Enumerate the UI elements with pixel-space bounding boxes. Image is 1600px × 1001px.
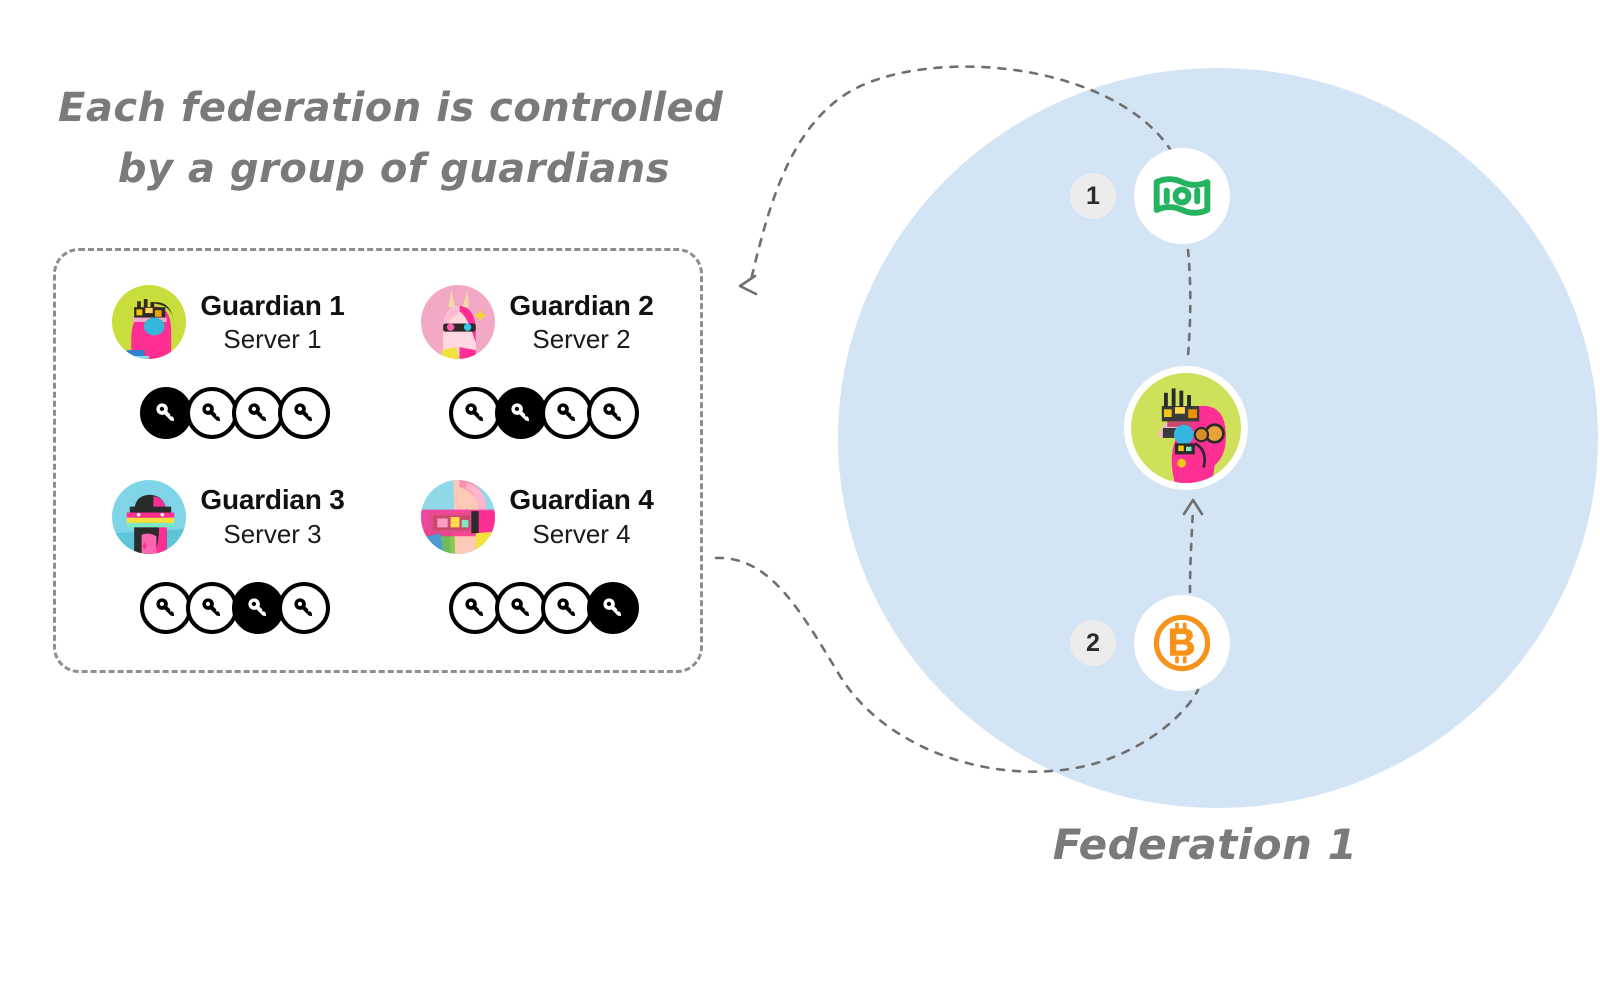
key-icon[interactable] [186,582,238,634]
guardian-card[interactable]: Guardian 3 Server 3 [74,462,383,657]
guardian-header: Guardian 1 Server 1 [112,267,344,377]
headline-line-2: by a group of guardians [58,139,708,200]
key-icon[interactable] [278,387,330,439]
key-icon[interactable] [232,582,284,634]
key-icon[interactable] [587,387,639,439]
key-icon[interactable] [140,582,192,634]
diagram-canvas: Each federation is controlled by a group… [0,0,1600,1001]
federation-node-ecash[interactable]: 1 [1070,148,1230,244]
guardian-name: Guardian 4 [509,484,653,515]
connector-ecash-arrowhead [740,276,756,294]
guardian-4-avatar [421,480,495,554]
guardian-card[interactable]: Guardian 1 Server 1 [74,267,383,462]
guardian-name: Guardian 1 [200,290,344,321]
key-icon[interactable] [232,387,284,439]
federation-caption: Federation 1 [1040,820,1370,869]
key-icon[interactable] [587,582,639,634]
guardian-2-avatar [421,285,495,359]
guardian-meta: Guardian 1 Server 1 [200,290,344,354]
guardian-key-row [140,387,324,439]
key-icon[interactable] [449,582,501,634]
guardian-header: Guardian 2 Server 2 [421,267,653,377]
guardian-server: Server 3 [223,520,321,549]
headline-line-1: Each federation is controlled [58,78,708,139]
node-badge: 1 [1070,173,1116,219]
guardian-meta: Guardian 2 Server 2 [509,290,653,354]
guardian-meta: Guardian 3 Server 3 [200,484,344,548]
banknote-icon[interactable] [1134,148,1230,244]
guardian-name: Guardian 2 [509,290,653,321]
guardian-server: Server 1 [223,325,321,354]
headline: Each federation is controlled by a group… [58,78,708,200]
key-icon[interactable] [495,387,547,439]
guardian-card[interactable]: Guardian 4 Server 4 [383,462,692,657]
guardian-key-row [140,582,324,634]
guardian-server: Server 4 [532,520,630,549]
key-icon[interactable] [186,387,238,439]
guardian-meta: Guardian 4 Server 4 [509,484,653,548]
node-badge: 2 [1070,620,1116,666]
guardian-1-avatar [112,285,186,359]
guardian-name: Guardian 3 [200,484,344,515]
guardian-server: Server 2 [532,325,630,354]
bitcoin-icon[interactable] [1134,595,1230,691]
guardians-grid: Guardian 1 Server 1 [56,251,700,670]
key-icon[interactable] [278,582,330,634]
guardian-key-row [449,387,633,439]
key-icon[interactable] [541,582,593,634]
cyborg-head-avatar [1131,373,1241,483]
key-icon[interactable] [449,387,501,439]
federation-center-node[interactable] [1124,366,1248,490]
federation-node-bitcoin[interactable]: 2 [1070,595,1230,691]
guardian-card[interactable]: Guardian 2 Server 2 [383,267,692,462]
guardian-header: Guardian 4 Server 4 [421,462,653,572]
guardian-key-row [449,582,633,634]
key-icon[interactable] [140,387,192,439]
guardians-panel: Guardian 1 Server 1 [53,248,703,673]
guardian-header: Guardian 3 Server 3 [112,462,344,572]
guardian-3-avatar [112,480,186,554]
key-icon[interactable] [541,387,593,439]
key-icon[interactable] [495,582,547,634]
